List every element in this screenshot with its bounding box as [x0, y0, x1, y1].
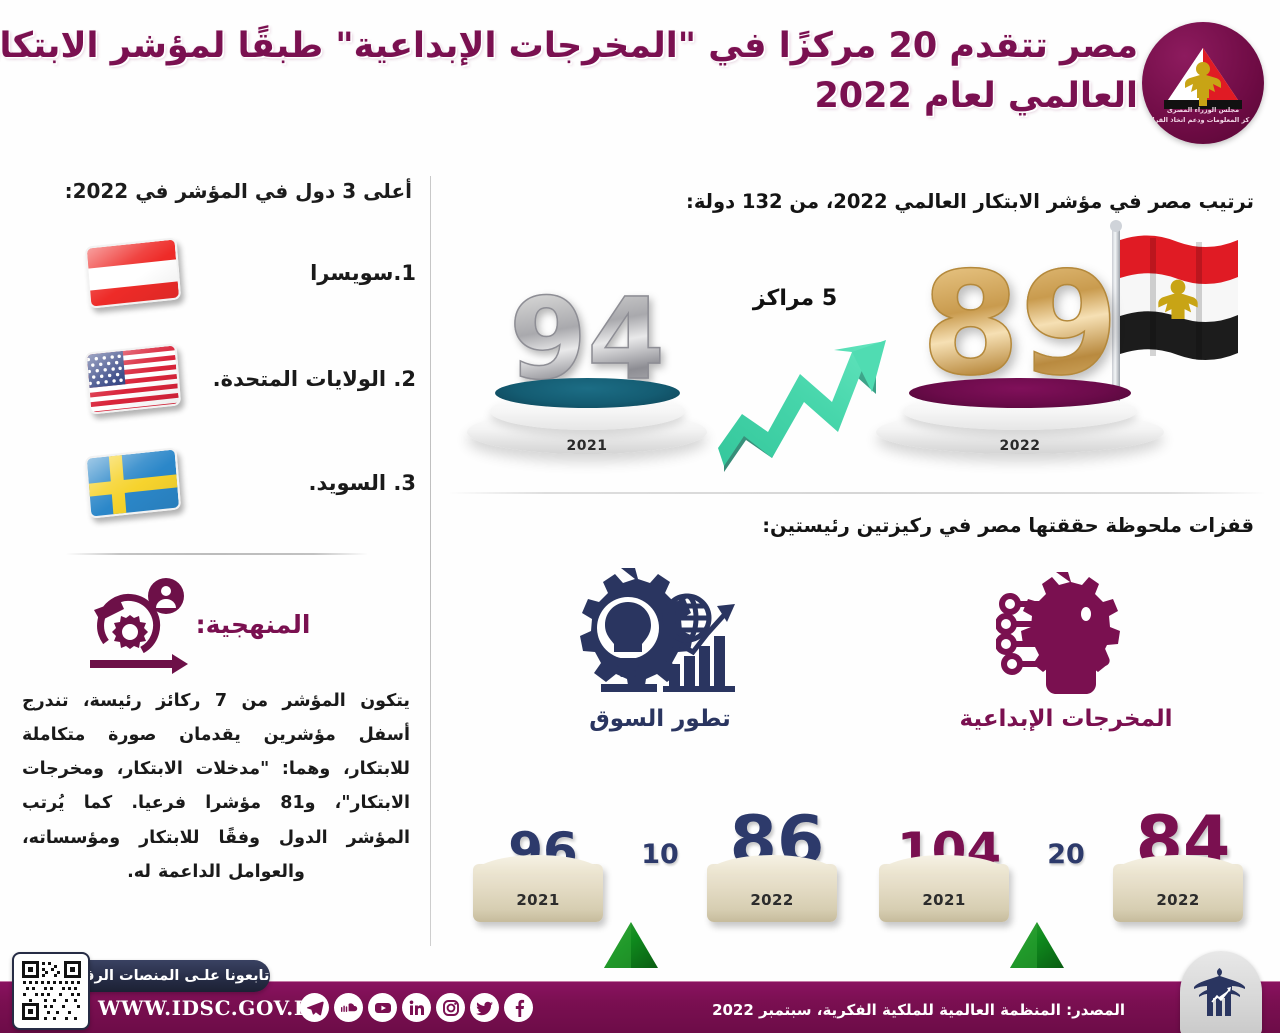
delta-indicator: 20 — [1029, 798, 1103, 928]
pillar-market-stats: 96 2021 10 — [460, 758, 860, 928]
rank-section: ترتيب مصر في مؤشر الابتكار العالمي 2022،… — [430, 168, 1280, 492]
country-label-usa: 2. الولايات المتحدة. — [186, 367, 416, 391]
podium-top-surface — [495, 378, 680, 408]
left-column: أعلى 3 دول في المؤشر في 2022: 1.سويسرا 2… — [0, 168, 430, 948]
title-line-1: مصر تتقدم 20 مركزًا في "المخرجات الإبداع… — [98, 22, 1138, 72]
site-url[interactable]: WWW.IDSC.GOV.EG — [98, 996, 327, 1020]
youtube-icon[interactable] — [368, 993, 397, 1022]
qr-code[interactable] — [12, 952, 90, 1030]
pillar-name-market: تطور السوق — [460, 706, 860, 732]
delta-value: 10 — [623, 839, 697, 870]
podium-2022: 89 2022 — [870, 220, 1170, 460]
pedestal-year-new: 2022 — [707, 891, 837, 909]
usa-flag-wrapper — [80, 340, 186, 418]
methodology-title: المنهجية: — [196, 610, 311, 639]
header: مصر تتقدم 20 مركزًا في "المخرجات الإبداع… — [0, 0, 1280, 168]
stat-block-old: 96 2021 — [469, 768, 617, 928]
title-line-2: العالمي لعام 2022 — [98, 72, 1138, 122]
methodology-block: المنهجية: يتكون المؤشر من 7 ركائز رئيسة،… — [0, 568, 430, 889]
infographic-page: مصر تتقدم 20 مركزًا في "المخرجات الإبداع… — [0, 0, 1280, 1033]
instagram-icon[interactable] — [436, 993, 465, 1022]
rank-delta-label: 5 مراكز — [700, 286, 890, 311]
market-bulb-chart-icon — [460, 562, 860, 702]
footer: تابعونا علـى المنصات الرقمية — [0, 948, 1280, 1033]
delta-indicator: 10 — [623, 798, 697, 928]
methodology-cycle-icon — [80, 574, 188, 674]
pedestal-old: 2021 — [879, 864, 1009, 922]
pedestal-year-new: 2022 — [1113, 891, 1243, 909]
idsc-emblem-icon — [1142, 22, 1264, 144]
podium-year-2022: 2022 — [870, 438, 1170, 454]
rank-heading: ترتيب مصر في مؤشر الابتكار العالمي 2022،… — [554, 190, 1254, 213]
podium-base-2022: 2022 — [870, 388, 1170, 460]
usa-flag — [85, 343, 181, 414]
sweden-flag-wrapper — [80, 444, 186, 522]
idsc-logo: مجلس الوزراء المصرى مركز المعلومات ودعم … — [1142, 22, 1264, 144]
twitter-icon[interactable] — [470, 993, 499, 1022]
pillar-name-creative: المخرجات الإبداعية — [866, 706, 1266, 732]
country-row: 2. الولايات المتحدة. — [16, 336, 416, 422]
horizontal-divider-right — [448, 492, 1266, 494]
pedestal-year-old: 2021 — [473, 891, 603, 909]
pedestal-old: 2021 — [473, 864, 603, 922]
country-label-switzerland: 1.سويسرا — [186, 261, 416, 285]
methodology-body: يتكون المؤشر من 7 ركائز رئيسة، تندرج أسف… — [0, 684, 430, 889]
switzerland-flag-wrapper — [80, 234, 186, 312]
follow-text: تابعونا علـى المنصات الرقمية — [61, 968, 270, 984]
rank-value-2022: 89 — [870, 254, 1170, 396]
pedestal-year-old: 2021 — [879, 891, 1009, 909]
pillar-creative-stats: 104 2021 20 — [866, 758, 1266, 928]
stat-block-new: 84 2022 — [1109, 768, 1257, 928]
source-text: المصدر: المنظمة العالمية للملكية الفكرية… — [712, 1001, 1125, 1019]
country-row: 3. السويد. — [16, 440, 416, 526]
social-row — [300, 993, 533, 1022]
podium-top-surface — [909, 378, 1131, 408]
pedestal-new: 2022 — [707, 864, 837, 922]
ai-head-gear-icon — [866, 562, 1266, 702]
podium-2021: 94 2021 — [462, 260, 712, 460]
stat-block-old: 104 2021 — [875, 768, 1023, 928]
soundcloud-icon[interactable] — [334, 993, 363, 1022]
podium-year-2021: 2021 — [462, 438, 712, 454]
pillar-market-development: تطور السوق 96 2021 10 — [460, 562, 860, 942]
pillars-section: قفزات ملحوظة حققتها مصر في ركيزتين رئيست… — [430, 496, 1280, 948]
logo-caption-2: مركز المعلومات ودعم اتخاذ القرار — [1142, 116, 1264, 125]
wipo-eagle-logo — [1180, 951, 1262, 1033]
follow-pill: تابعونا علـى المنصات الرقمية — [60, 960, 270, 992]
pillars-heading: قفزات ملحوظة حققتها مصر في ركيزتين رئيست… — [554, 514, 1254, 537]
sweden-flag — [85, 447, 181, 518]
country-label-sweden: 3. السويد. — [186, 471, 416, 495]
switzerland-flag — [85, 237, 181, 308]
logo-caption-1: مجلس الوزراء المصرى — [1142, 106, 1264, 115]
linkedin-icon[interactable] — [402, 993, 431, 1022]
pillar-creative-outputs: المخرجات الإبداعية 104 2021 20 — [866, 562, 1266, 942]
page-title: مصر تتقدم 20 مركزًا في "المخرجات الإبداع… — [98, 22, 1138, 121]
facebook-icon[interactable] — [504, 993, 533, 1022]
podium-base-2021: 2021 — [462, 388, 712, 460]
growth-arrow-icon — [718, 336, 888, 472]
stat-block-new: 86 2022 — [703, 768, 851, 928]
top3-heading: أعلى 3 دول في المؤشر في 2022: — [18, 178, 412, 205]
telegram-icon[interactable] — [300, 993, 329, 1022]
pedestal-new: 2022 — [1113, 864, 1243, 922]
methodology-header: المنهجية: — [0, 568, 430, 680]
delta-value: 20 — [1029, 839, 1103, 870]
country-row: 1.سويسرا — [16, 230, 416, 316]
